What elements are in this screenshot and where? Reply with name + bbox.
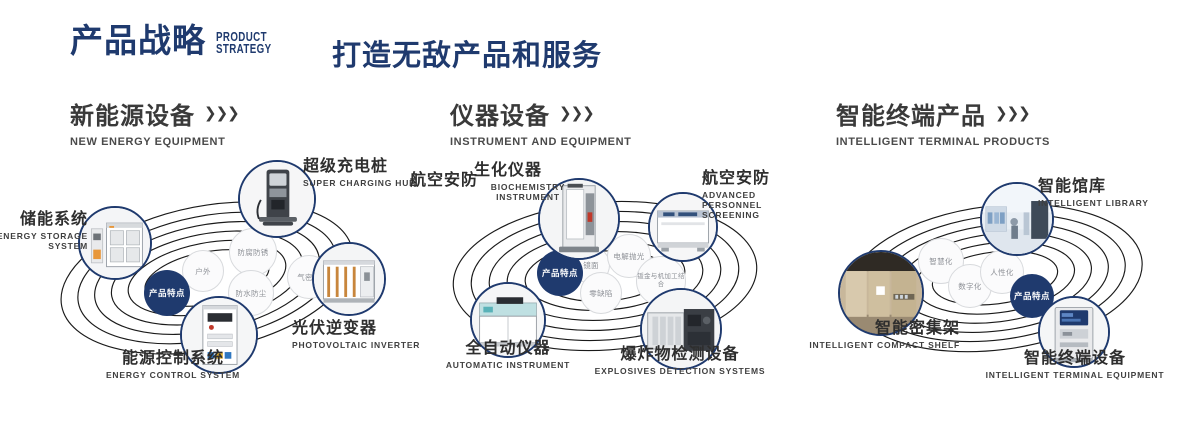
section-title-new-energy: 新能源设备 ❯❯❯ NEW ENERGY EQUIPMENT: [70, 96, 239, 148]
section-title-en: NEW ENERGY EQUIPMENT: [70, 136, 239, 148]
node-label-automatic-instrument: 全自动仪器 AUTOMATIC INSTRUMENT: [418, 340, 598, 370]
node-label-energy-storage: 储能系统 ENERGY STORAGE SYSTEM: [0, 211, 88, 251]
inverter-cabinet-photo: [314, 244, 384, 314]
section-title-en: INTELLIGENT TERMINAL PRODUCTS: [836, 136, 1050, 148]
node-label-intelligent-terminal-equipment: 智能终端设备 INTELLIGENT TERMINAL EQUIPMENT: [980, 350, 1170, 380]
page-title-en: PRODUCT STRATEGY: [216, 31, 271, 55]
page-title-cn: 产品战略: [70, 24, 206, 57]
cluster-new-energy: 户外 防腐防锈 气密性 防水防尘 产品特点 储能系统 ENERGY STORAG…: [0, 150, 420, 400]
node-label-intelligent-library: 智能馆库 INTELLIGENT LIBRARY: [1038, 178, 1149, 208]
chevron-right-triple-icon: ❯❯❯: [204, 106, 239, 121]
node-energy-storage[interactable]: [78, 206, 152, 280]
node-label-intelligent-compact-shelf: 智能密集架 INTELLIGENT COMPACT SHELF: [780, 320, 960, 350]
chevron-right-triple-icon: ❯❯❯: [995, 106, 1030, 121]
cluster-terminal: 智慧化 数字化 人性化 产品特点 智能馆库 INTELLIGENT LIBRAR…: [790, 150, 1200, 400]
page-title-block: 产品战略 PRODUCT STRATEGY: [70, 24, 287, 57]
section-title-instrument: 仪器设备 ❯❯❯ INSTRUMENT AND EQUIPMENT: [450, 96, 631, 148]
node-label-explosives-detection: 爆炸物检测设备 EXPLOSIVES DETECTION SYSTEMS: [580, 346, 780, 376]
section-title-cn: 智能终端产品: [836, 96, 986, 131]
section-title-en: INSTRUMENT AND EQUIPMENT: [450, 136, 631, 148]
cluster-instrument: 镜面 电解抛光 钣金与机加工结合 零缺陷 产品特点 生化仪器 BIOCHEMIS…: [400, 150, 820, 400]
node-label-energy-control-system: 能源控制系统 ENERGY CONTROL SYSTEM: [78, 350, 268, 380]
chevron-right-triple-icon: ❯❯❯: [559, 106, 594, 121]
section-title-cn: 仪器设备: [450, 96, 550, 131]
page-slogan: 打造无敌产品和服务: [332, 32, 602, 74]
node-photovoltaic-inverter[interactable]: [312, 242, 386, 316]
feature-bubble: 零缺陷: [580, 272, 622, 314]
page-title-en-line2: STRATEGY: [216, 43, 271, 55]
node-label-aviation-security-left: 航空安防: [410, 172, 478, 190]
section-title-cn: 新能源设备: [70, 96, 195, 131]
battery-cabinet-photo: [80, 208, 150, 278]
section-title-terminal: 智能终端产品 ❯❯❯ INTELLIGENT TERMINAL PRODUCTS: [836, 96, 1050, 148]
